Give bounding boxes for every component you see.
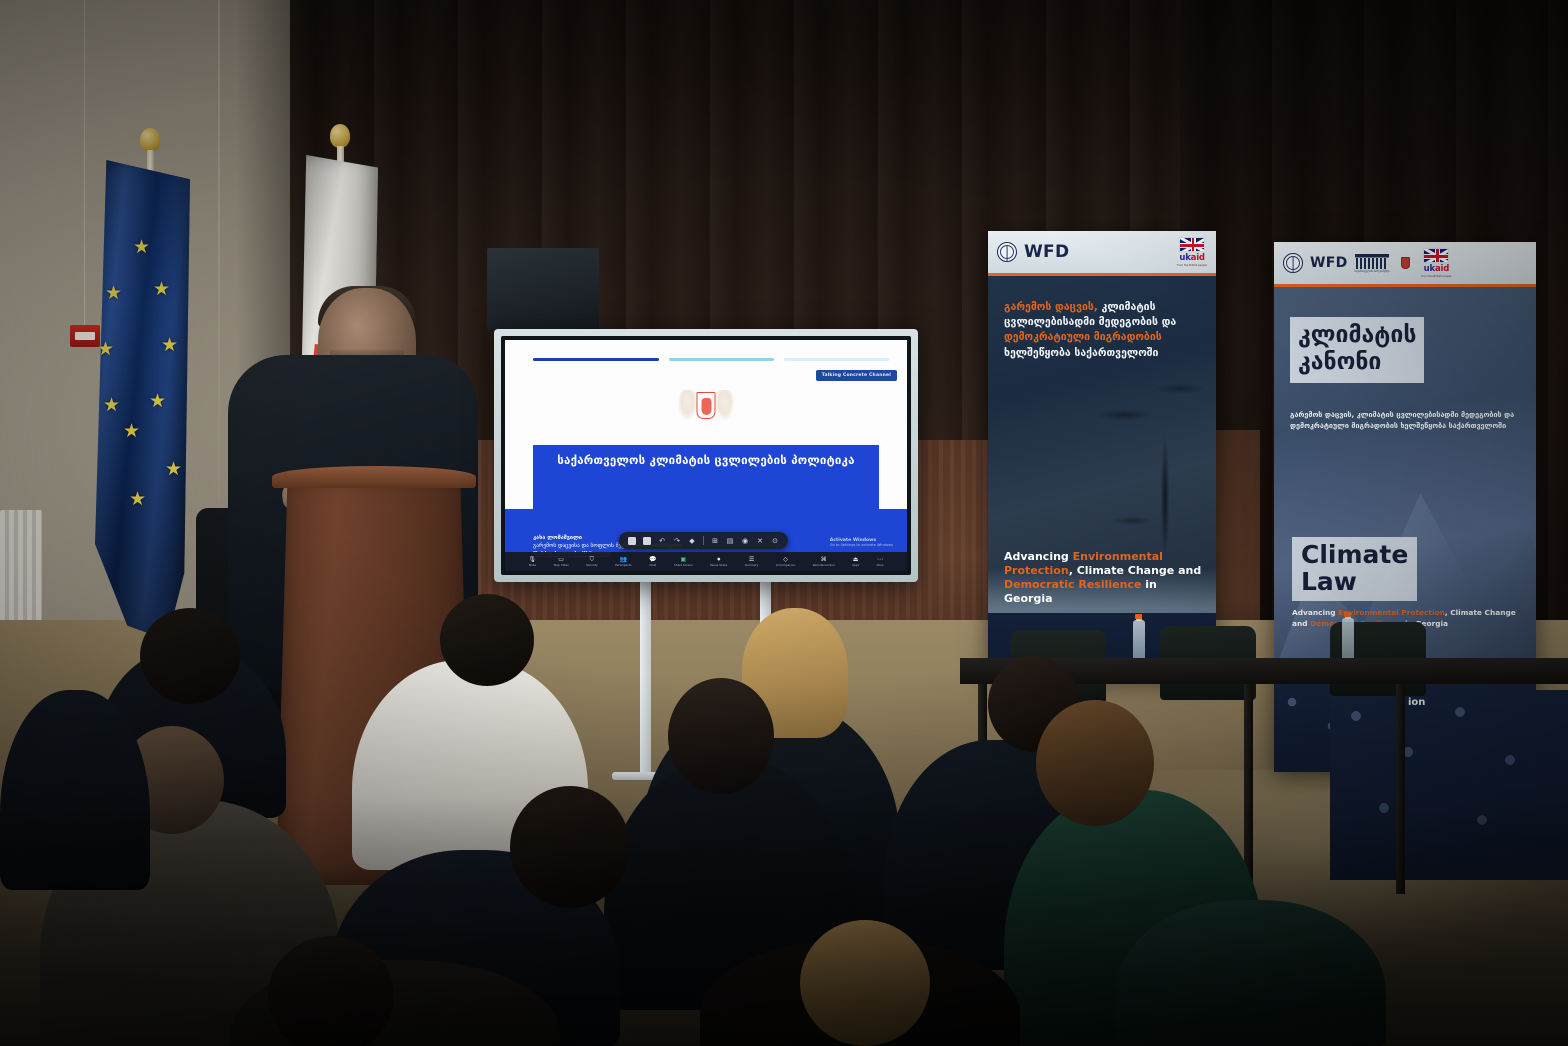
toolbar-label: Stop Video (554, 564, 569, 567)
table-leg (1396, 684, 1405, 894)
bottle-cap (1135, 614, 1142, 619)
flagpole-finial-ge (330, 124, 350, 148)
save-icon[interactable]: ▤ (726, 537, 734, 545)
union-jack-icon (1423, 248, 1449, 263)
table-leg (1244, 684, 1253, 894)
zoom-toolbar-more[interactable]: ⋯More (877, 557, 884, 567)
watermark-line-2: Go to Settings to activate Windows (830, 543, 893, 547)
text-run: Democratic Resilience (1004, 578, 1141, 591)
presentation-display: Talking Concrete Channel საქართველოს კლი… (494, 329, 918, 582)
conference-hall-scene: ★ ★ ★ ★ ★ ★ ★ ★ ★ ★ T (0, 0, 1568, 1046)
alarm-conduit (84, 0, 85, 325)
stop-share-icon[interactable] (628, 537, 636, 545)
tv-stand-column-left (640, 580, 651, 780)
slide-title-band: საქართველოს კლიმატის ცვლილების პოლიტიკა (533, 445, 879, 511)
undo-icon[interactable]: ↶ (658, 537, 666, 545)
toolbar-label: Security (586, 564, 598, 567)
progress-segment-2 (669, 358, 774, 361)
banner-logo-strip: WFD ukaid from the British people (988, 231, 1216, 276)
zoom-toolbar-ai-companion[interactable]: ◇AI Companion (776, 557, 796, 567)
zoom-share-toolbar[interactable]: ↶↷◆⊞▤◉✕⊙ (619, 532, 788, 549)
toolbar-label: Mute (529, 564, 536, 567)
zoom-toolbar-security[interactable]: ⛉Security (586, 557, 598, 567)
zoom-toolbar-pause-share[interactable]: ⏺Pause Share (710, 557, 727, 567)
zoom-toolbar-chat[interactable]: 💬Chat (649, 557, 656, 567)
banner-image-area: გარემოს დაცვის, კლიმატის ცვლილებისადმი მ… (988, 276, 1216, 658)
settings-icon[interactable]: ◉ (741, 537, 749, 545)
slide: Talking Concrete Channel საქართველოს კლი… (505, 340, 907, 571)
audience-head (668, 678, 774, 794)
more-icon[interactable]: ⊙ (771, 537, 779, 545)
summary-icon: ☰ (749, 557, 754, 563)
toolbar-label: AI Companion (776, 564, 796, 567)
banner-logo-strip-right: WFD საქართველოს პარლამენტი ukaid from th… (1274, 242, 1536, 287)
progress-segment-3 (784, 358, 889, 361)
share-screen-icon: ▣ (681, 557, 687, 563)
ukaid-subtitle: from the British people (1177, 264, 1207, 267)
zoom-toolbar-mute[interactable]: 🎙Mute (528, 557, 536, 567)
toolbar-label: Chat (650, 564, 657, 567)
zoom-toolbar-apps[interactable]: ⏏Apps (852, 557, 859, 567)
audience-head (510, 786, 630, 908)
text-run: Advancing (1004, 550, 1073, 563)
progress-segment-1 (533, 358, 659, 361)
rollup-banner-partial (1330, 690, 1568, 880)
text-run: გარემოს დაცვის, (1004, 301, 1102, 313)
apps-icon: ⏏ (853, 557, 859, 563)
georgia-coat-of-arms-icon (1396, 253, 1414, 273)
heading-en-line-1: Climate (1301, 541, 1408, 568)
toolbar-divider (703, 536, 704, 545)
spotlight-icon[interactable]: ◆ (688, 537, 696, 545)
parliament-caption: საქართველოს პარლამენტი (1355, 270, 1390, 273)
pause-share-icon: ⏺ (717, 557, 720, 563)
podium-top (272, 466, 476, 488)
windows-activation-watermark: Activate Windows Go to Settings to activ… (830, 538, 893, 547)
toolbar-label: Summary (745, 564, 759, 567)
text-run: ხელშეწყობა საქართველოში (1004, 347, 1158, 359)
bottle-cap (1344, 612, 1351, 617)
toolbar-label: Participants (615, 564, 631, 567)
ukaid-logo: ukaid from the British people (1177, 237, 1207, 267)
loudspeaker-box (487, 248, 599, 330)
audience-head (1036, 700, 1154, 826)
remote-control-icon: ⌘ (821, 557, 827, 563)
zoom-toolbar-remote-control[interactable]: ⌘Remote Control (813, 557, 835, 567)
rollup-banner-advancing: WFD ukaid from the British people გარემო… (988, 231, 1216, 679)
ukaid-logo-text: ukaid (1424, 264, 1449, 274)
camera-icon: ▭ (558, 557, 564, 563)
ukaid-logo: ukaid from the British people (1421, 248, 1451, 278)
wfd-logo-text: WFD (1024, 242, 1069, 262)
text-run: Advancing (1292, 608, 1338, 617)
toolbar-label: Share Screen (674, 564, 693, 567)
text-run: , Climate Change and (1069, 564, 1202, 577)
microphone-icon: 🎙 (528, 557, 536, 563)
audience-head-blonde (800, 920, 930, 1046)
banner-english-title: Advancing Environmental Protection, Clim… (1004, 550, 1204, 606)
wfd-logo-text: WFD (1310, 255, 1348, 271)
fire-alarm-icon (70, 325, 100, 347)
heading-line-2: კანონი (1298, 349, 1416, 376)
slide-title: საქართველოს კლიმატის ცვლილების პოლიტიკა (557, 453, 854, 467)
georgia-coat-of-arms-icon (678, 388, 734, 434)
banner-georgian-subtitle: გარემოს დაცვის, კლიმატის ცვლილებისადმი მ… (1290, 410, 1524, 432)
ai-companion-icon: ◇ (783, 557, 788, 563)
audience-head (140, 608, 240, 704)
wfd-globe-icon (997, 242, 1017, 262)
heading-line-1: კლიმატის (1298, 322, 1416, 349)
union-jack-icon (1179, 237, 1205, 252)
close-icon[interactable]: ✕ (756, 537, 764, 545)
banner-georgian-heading: კლიმატის კანონი (1290, 317, 1424, 383)
zoom-toolbar-summary[interactable]: ☰Summary (745, 557, 759, 567)
zoom-toolbar-share-screen[interactable]: ▣Share Screen (674, 557, 693, 567)
eu-flag: ★ ★ ★ ★ ★ ★ ★ ★ ★ ★ (95, 160, 190, 640)
ukaid-subtitle: from the British people (1421, 275, 1451, 278)
shield-icon: ⛉ (590, 557, 595, 563)
toolbar-label: Pause Share (710, 564, 727, 567)
slide-badge: Talking Concrete Channel (816, 370, 897, 381)
redo-icon[interactable]: ↷ (673, 537, 681, 545)
participants-icon: 👥 (620, 557, 627, 563)
text-run: და (1162, 316, 1177, 328)
audience-head (268, 936, 394, 1046)
slide-progress-bar (533, 358, 889, 361)
wfd-globe-icon (1283, 253, 1303, 273)
toolbar-label: Apps (852, 564, 859, 567)
banner-english-heading: Climate Law (1292, 537, 1417, 601)
chat-icon: 💬 (649, 557, 656, 563)
more-icon: ⋯ (877, 557, 883, 563)
heading-en-line-2: Law (1301, 568, 1408, 595)
text-run: დემოკრატიული მიგრადობის (1004, 331, 1162, 343)
zoom-toolbar-stop-video[interactable]: ▭Stop Video (554, 557, 569, 567)
parliament-of-georgia-icon: საქართველოს პარლამენტი (1355, 254, 1390, 273)
banner-georgian-title: გარემოს დაცვის, კლიმატის ცვლილებისადმი მ… (1004, 300, 1202, 361)
pause-share-icon[interactable] (643, 537, 651, 545)
new-share-icon[interactable]: ⊞ (711, 537, 719, 545)
text-run: Environmental Protection (1338, 608, 1445, 617)
ukaid-logo-text: ukaid (1179, 253, 1204, 263)
toolbar-label: Remote Control (813, 564, 835, 567)
banner-partial-text: ion (1408, 697, 1425, 708)
zoom-toolbar-participants[interactable]: 👥Participants (615, 557, 631, 567)
flagpole-finial-eu (140, 128, 160, 152)
toolbar-label: More (877, 564, 884, 567)
zoom-meeting-toolbar[interactable]: 🎙Mute▭Stop Video⛉Security👥Participants💬C… (505, 552, 907, 571)
audience-head (440, 594, 534, 686)
